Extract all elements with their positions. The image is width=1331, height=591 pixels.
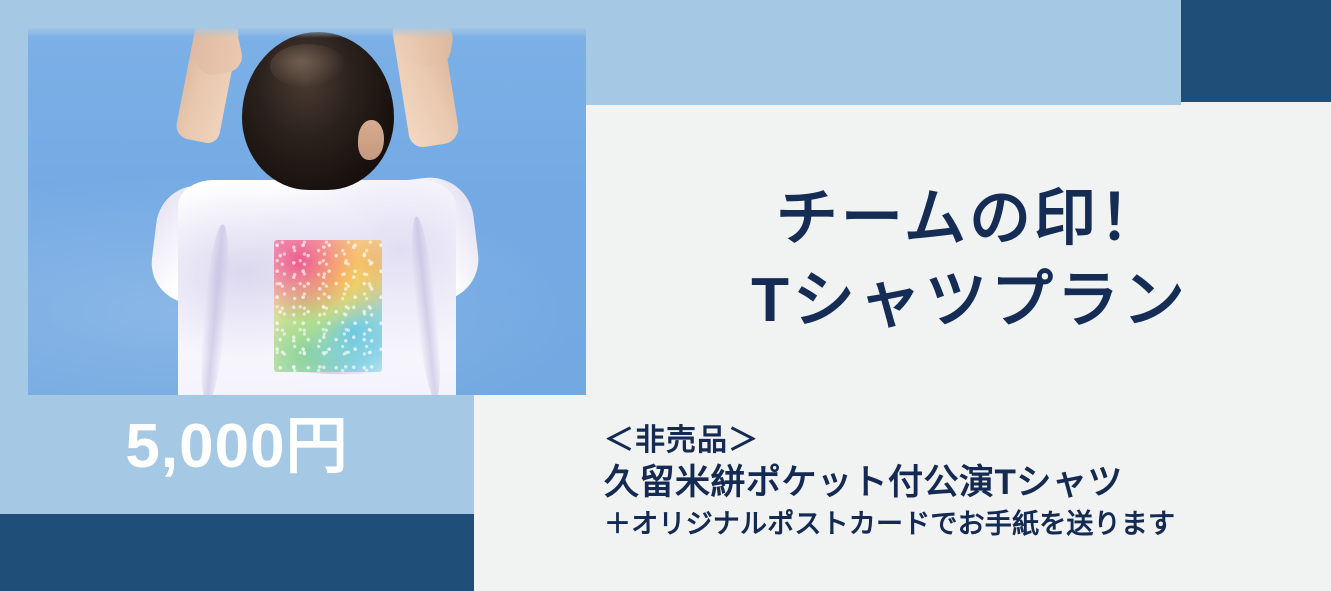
plan-title-line-2: Tシャツプラン [640, 260, 1300, 342]
description-line-3: ＋オリジナルポストカードでお手紙を送ります [604, 507, 1314, 542]
description-line-2: 久留米絣ポケット付公演Tシャツ [604, 461, 1314, 505]
rainbow-back-print [274, 240, 382, 372]
price-label: 5,000円 [0, 416, 474, 478]
photo-top-edge-gradient [28, 28, 586, 38]
plan-description: ＜非売品＞ 久留米絣ポケット付公演Tシャツ ＋オリジナルポストカードでお手紙を送… [604, 422, 1314, 541]
hair-highlight [270, 44, 346, 88]
description-line-1: ＜非売品＞ [604, 422, 1314, 460]
tshirt-photo [28, 28, 586, 395]
reward-plan-poster: 5,000円 チームの印！ Tシャツプラン ＜非売品＞ 久留米絣ポケット付公演T… [0, 0, 1331, 591]
plan-title: チームの印！ Tシャツプラン [640, 178, 1300, 343]
dark-blue-top-right-block [1181, 0, 1331, 102]
plan-title-line-1: チームの印！ [640, 178, 1300, 260]
dark-blue-bottom-left-block [0, 514, 474, 591]
